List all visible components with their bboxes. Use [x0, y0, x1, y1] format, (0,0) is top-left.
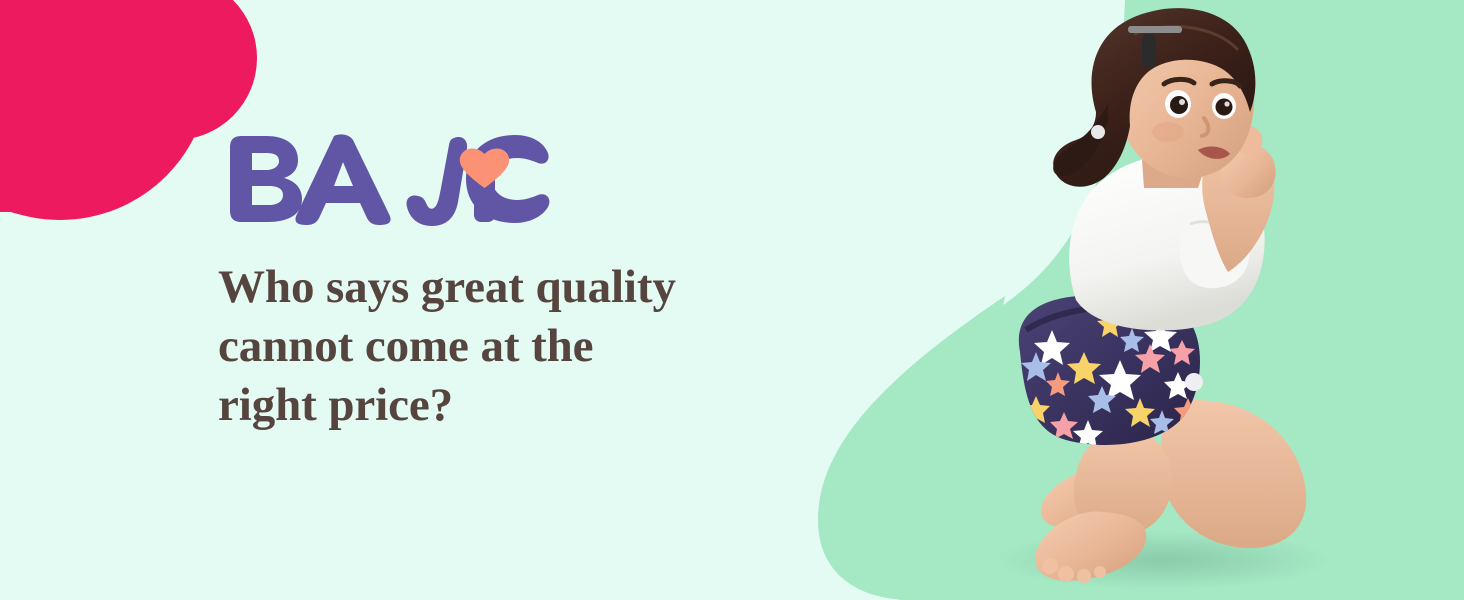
brand-logo-wordmark [222, 118, 552, 228]
page-title: Who says great quality cannot come at th… [218, 258, 838, 436]
logo-letter-S [407, 137, 468, 226]
brand-logo[interactable]: TM [222, 118, 552, 228]
back-leg [1160, 400, 1306, 548]
logo-letter-B [230, 136, 302, 222]
headline-line-2: cannot come at the [218, 317, 838, 376]
headline-line-1: Who says great quality [218, 258, 838, 317]
hero-photo [992, 0, 1392, 600]
promo-banner: TM Who says great quality cannot come at… [0, 0, 1464, 600]
diaper-snap [1185, 373, 1203, 391]
cheek-blush [1152, 122, 1184, 142]
logo-letter-A [295, 134, 390, 225]
trademark-symbol: TM [511, 143, 533, 160]
headline-line-3: right price? [218, 376, 838, 435]
